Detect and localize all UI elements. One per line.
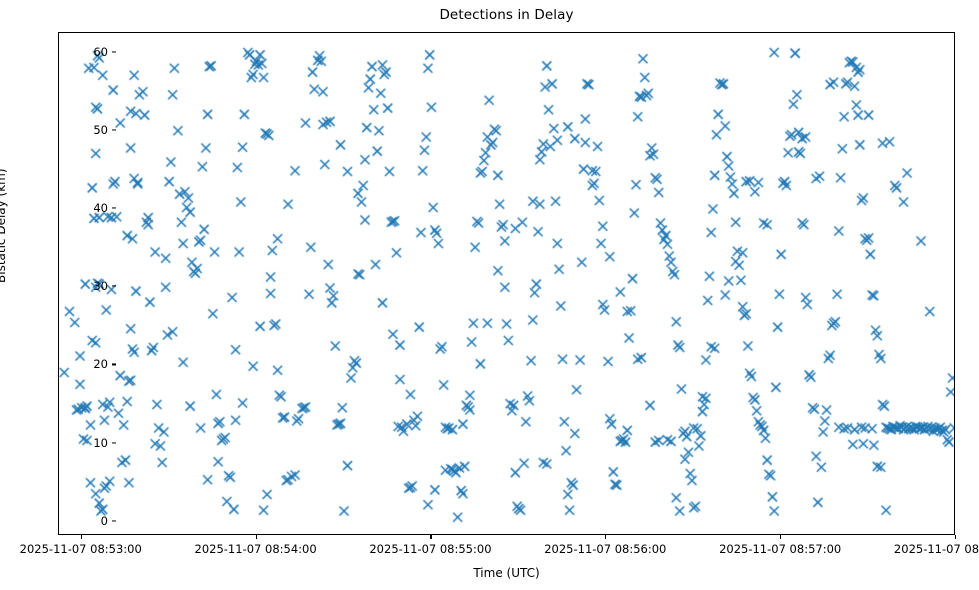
x-tick-label: 2025-11-07 08:56:00 (544, 542, 666, 556)
x-tick-mark (955, 535, 956, 539)
x-tick-label: 2025-11-07 08:53:00 (20, 542, 142, 556)
x-tick-mark (780, 535, 781, 539)
y-tick-label: 0 (101, 514, 108, 528)
x-tick-mark (605, 535, 606, 539)
x-tick-mark (256, 535, 257, 539)
x-tick-label: 2025-11-07 08:58:00 (894, 542, 979, 556)
y-tick-mark (112, 286, 116, 287)
matplotlib-figure: Detections in Delay 0102030405060 2025-1… (0, 0, 979, 590)
y-tick-label: 20 (93, 357, 108, 371)
y-tick-mark (112, 520, 116, 521)
y-tick-label: 30 (93, 279, 108, 293)
x-tick-label: 2025-11-07 08:57:00 (719, 542, 841, 556)
y-tick-mark (112, 364, 116, 365)
y-tick-mark (112, 129, 116, 130)
x-tick-mark (430, 535, 431, 539)
plot-area (58, 32, 955, 535)
y-axis-label: Bistatic Delay (km) (0, 168, 8, 283)
y-tick-mark (112, 51, 116, 52)
y-tick-label: 60 (93, 45, 108, 59)
x-tick-label: 2025-11-07 08:54:00 (195, 542, 317, 556)
x-tick-label: 2025-11-07 08:55:00 (369, 542, 491, 556)
page-title: Detections in Delay (58, 7, 955, 23)
y-tick-mark (112, 207, 116, 208)
y-tick-label: 50 (93, 123, 108, 137)
y-tick-label: 40 (93, 201, 108, 215)
scatter-series-canvas (59, 33, 955, 535)
x-axis-label: Time (UTC) (58, 566, 955, 580)
y-tick-label: 10 (93, 436, 108, 450)
x-tick-mark (81, 535, 82, 539)
y-tick-mark (112, 442, 116, 443)
